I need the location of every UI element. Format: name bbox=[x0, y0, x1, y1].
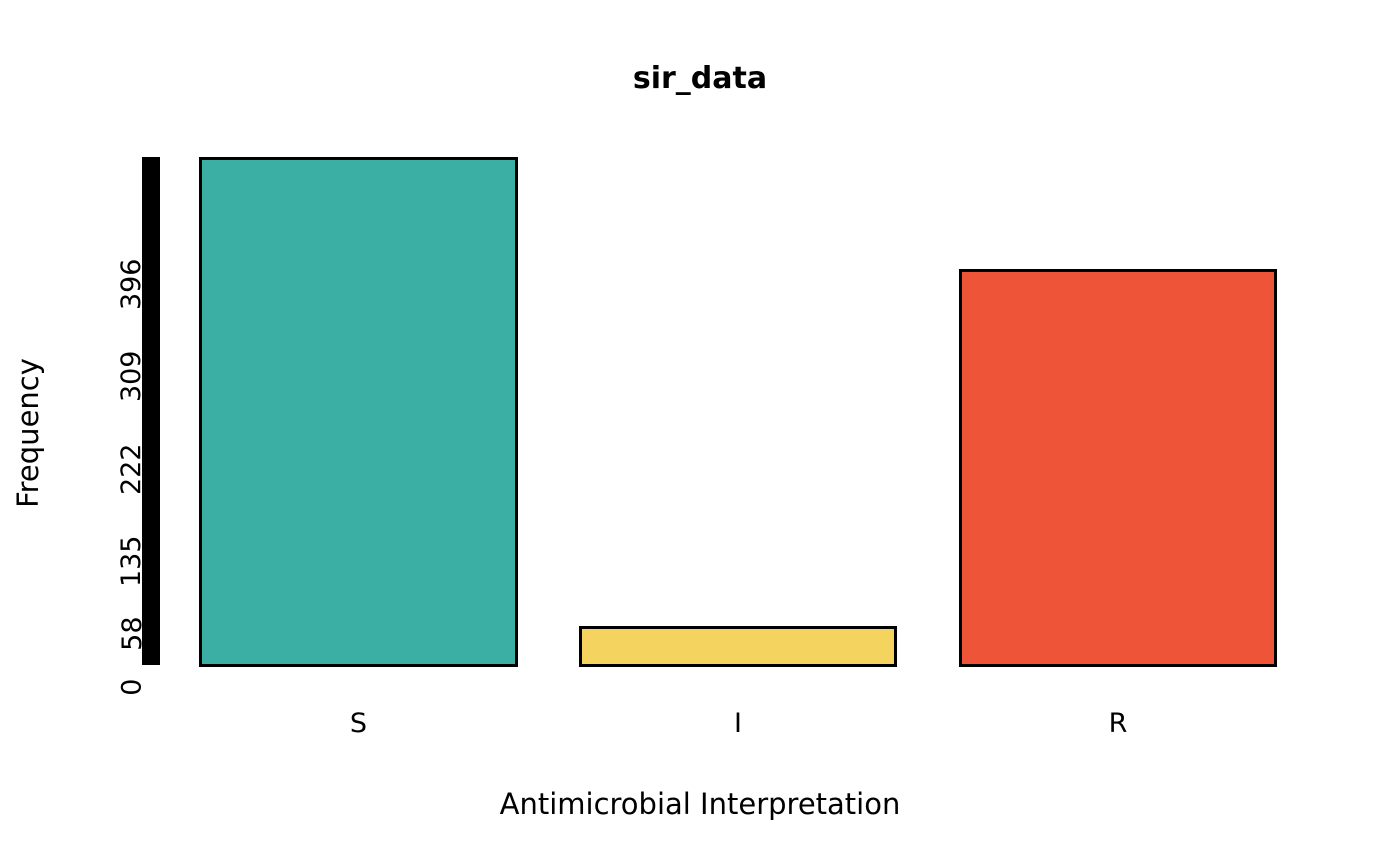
bar-I bbox=[579, 626, 897, 667]
page-title: sir_data bbox=[0, 57, 1400, 101]
y-axis-tick-label: 0 bbox=[119, 679, 146, 696]
x-axis-tick-label-R: R bbox=[959, 708, 1277, 740]
x-axis-tick-label-S: S bbox=[199, 708, 518, 740]
bar-S bbox=[199, 157, 518, 667]
chart-figure: sir_data Frequency 058135222309396 S I R… bbox=[0, 0, 1400, 866]
plot-area bbox=[142, 155, 1282, 667]
y-axis-title-container: Frequency bbox=[0, 0, 56, 866]
y-axis-title: Frequency bbox=[0, 0, 56, 866]
x-axis-tick-label-I: I bbox=[579, 708, 897, 740]
bar-R bbox=[959, 269, 1277, 667]
x-axis-title: Antimicrobial Interpretation bbox=[0, 786, 1400, 822]
